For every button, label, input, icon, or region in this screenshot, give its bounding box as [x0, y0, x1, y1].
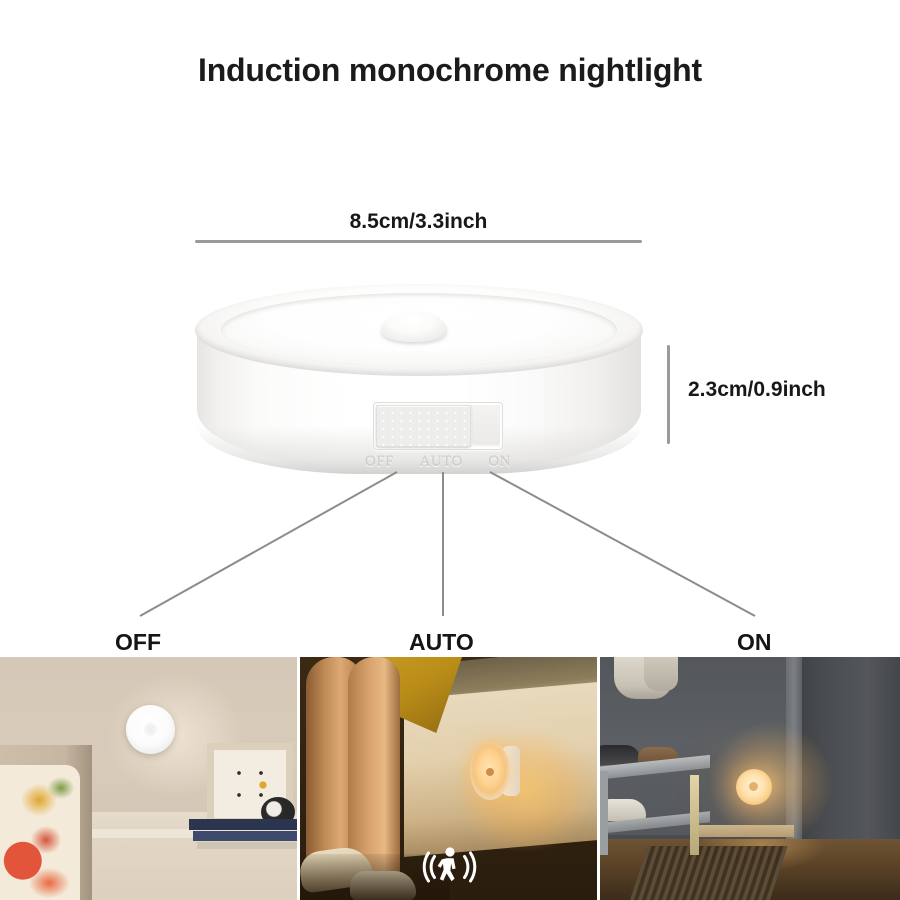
motion-sensor-dome: [381, 312, 447, 342]
patterned-pillow: [0, 765, 80, 900]
nightlight-sensor-bedroom: [144, 723, 157, 736]
callout-label-auto: AUTO: [409, 629, 474, 656]
nightlight-unit-bedroom: [126, 705, 175, 754]
pillow-fox-motif: [0, 820, 66, 894]
switch-embossed-labels: OFF AUTO ON: [365, 454, 511, 471]
product-image: OFF AUTO ON: [195, 276, 643, 488]
mode-switch[interactable]: [373, 402, 503, 450]
embossed-label-on: ON: [488, 454, 511, 471]
photo-entryway: [600, 657, 900, 900]
pillow-bird-motif: [16, 781, 62, 819]
leader-line-off: [140, 472, 397, 616]
motion-sensor-icon: [421, 843, 477, 891]
switch-slider-handle[interactable]: [376, 405, 471, 447]
book-bottom: [197, 842, 297, 849]
framed-art-accent: [258, 780, 268, 790]
embossed-label-auto: AUTO: [419, 454, 462, 471]
nightlight-unit-bedside: [470, 742, 520, 800]
callout-label-off: OFF: [115, 629, 161, 656]
book-top: [189, 819, 297, 830]
book-stack: [189, 819, 297, 849]
hanging-coat-secondary: [644, 657, 678, 691]
page-title: Induction monochrome nightlight: [0, 52, 900, 89]
nightlight-sensor-bedside: [486, 768, 494, 776]
book-middle: [193, 831, 297, 841]
switch-track: [472, 405, 500, 445]
leader-line-on: [490, 472, 755, 616]
shoe-rack-leg-left: [600, 771, 608, 855]
photo-strip: [0, 657, 900, 900]
dimension-width-label: 8.5cm/3.3inch: [195, 210, 642, 234]
shoe-rack-leg-right: [690, 775, 699, 855]
callout-label-on: ON: [737, 629, 772, 656]
dimension-width-line: [195, 240, 642, 243]
dimension-height-line: [667, 345, 670, 444]
nightlight-sensor-entryway: [749, 782, 758, 791]
nightlight-unit-entryway: [736, 769, 772, 805]
embossed-label-off: OFF: [365, 454, 394, 471]
photo-bedside-motion: [300, 657, 597, 900]
shoe-rack: [600, 751, 716, 859]
photo-bedroom: [0, 657, 297, 900]
dimension-height-label: 2.3cm/0.9inch: [688, 378, 826, 402]
